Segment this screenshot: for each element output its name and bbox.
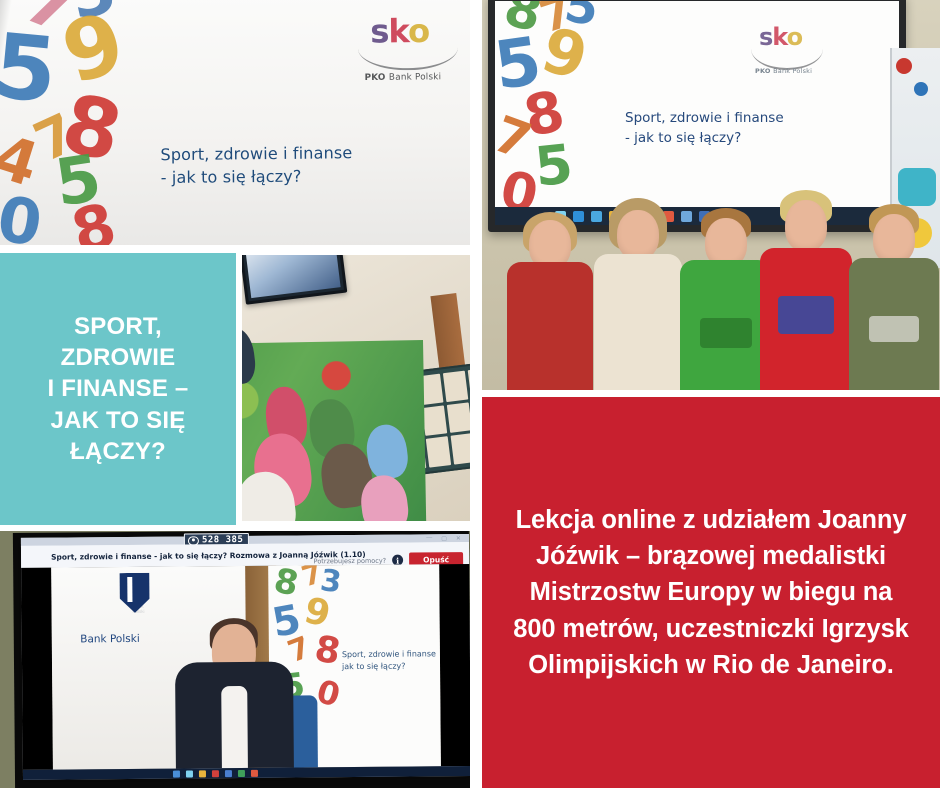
sko-logo: sko PKO Bank Polski xyxy=(356,16,463,92)
child-shirt-graphic xyxy=(700,318,752,348)
children-photo: 8 7 5 5 9 8 7 5 0 sko PKO Bank Polski Sp… xyxy=(482,0,940,390)
child-figure xyxy=(506,210,594,390)
taskbar-icon[interactable] xyxy=(238,769,245,776)
pko-brand-label: Bank Polski xyxy=(80,633,140,646)
pko-shield-icon xyxy=(120,573,150,613)
sko-letter-k: k xyxy=(388,13,408,51)
taskbar-icon[interactable] xyxy=(199,770,206,777)
child-head xyxy=(873,214,915,264)
maximize-icon[interactable]: ▢ xyxy=(441,535,447,542)
taskbar-icon[interactable] xyxy=(173,770,180,777)
slide-surface: 7 5 5 9 8 7 4 5 0 8 sko PKO Bank Polski … xyxy=(0,0,470,245)
sko-subtitle-rest: Bank Polski xyxy=(389,72,441,83)
teal-caption-panel: SPORT, ZDROWIE I FINANSE – JAK TO SIĘ ŁĄ… xyxy=(0,253,236,525)
sko-letter-o: o xyxy=(408,13,430,51)
guest-shirt xyxy=(222,686,249,768)
photo-collage: 7 5 5 9 8 7 4 5 0 8 sko PKO Bank Polski … xyxy=(0,0,940,788)
whiteboard-sko-logo: sko PKO Bank Polski xyxy=(749,25,827,83)
sko-wordmark: sko xyxy=(370,16,429,49)
slide-number-decoration: 7 5 5 9 8 7 4 5 0 8 xyxy=(0,0,148,245)
sko-wordmark: sko xyxy=(759,25,802,49)
notice-card xyxy=(468,368,470,399)
number-glyph: 5 xyxy=(0,22,60,117)
poster-smiley-icon xyxy=(898,168,936,206)
number-glyph: 0 xyxy=(314,675,344,712)
child-shirt xyxy=(507,262,593,390)
child-figure xyxy=(592,198,684,390)
video-slide-headline: Sport, zdrowie i finanse jak to się łącz… xyxy=(342,648,436,673)
sko-letter-o: o xyxy=(787,23,803,51)
video-call-photo: 528 385 — ▢ ✕ Sport, zdrowie i finanse -… xyxy=(0,531,470,788)
sko-smile-icon xyxy=(358,47,458,71)
slide-headline: Sport, zdrowie i finanse - jak to się łą… xyxy=(160,142,352,190)
poster-blob xyxy=(896,58,912,74)
child-shirt xyxy=(594,254,682,390)
poster-blob xyxy=(914,82,928,96)
classroom-photo xyxy=(242,255,470,521)
whiteboard-number-decoration: 8 7 5 5 9 8 7 5 0 xyxy=(495,1,599,225)
child-figure xyxy=(758,190,854,390)
sko-letter-k: k xyxy=(772,23,786,51)
video-stage: Bank Polski Bank Polski 8 7 xyxy=(21,564,470,770)
child-shirt-graphic xyxy=(778,296,834,334)
number-glyph: 8 xyxy=(66,194,122,245)
child-head xyxy=(785,200,827,252)
number-glyph: 0 xyxy=(0,188,46,245)
notice-card xyxy=(422,405,447,436)
number-glyph: 8 xyxy=(312,631,343,671)
number-glyph: 9 xyxy=(301,593,334,634)
guest-speaker-figure xyxy=(169,618,300,769)
sko-subtitle-bold: PKO xyxy=(755,67,773,75)
classroom-scene xyxy=(242,255,470,521)
sko-letter-s: s xyxy=(759,23,772,51)
monitor-bezel: 528 385 — ▢ ✕ Sport, zdrowie i finanse -… xyxy=(13,531,470,788)
sko-subtitle: PKO Bank Polski xyxy=(755,67,812,75)
notice-card xyxy=(443,371,468,402)
red-caption-panel: Lekcja online z udziałem Joanny Jóźwik –… xyxy=(482,397,940,788)
child-shirt-graphic xyxy=(869,316,919,342)
whiteboard-headline: Sport, zdrowie i finanse - jak to się łą… xyxy=(625,109,784,148)
number-glyph: 8 xyxy=(272,565,301,602)
red-caption-text: Lekcja online z udziałem Joanny Jóźwik –… xyxy=(482,502,940,683)
child-figure xyxy=(848,202,940,390)
taskbar-icon[interactable] xyxy=(212,770,219,777)
help-label[interactable]: Potrzebujesz pomocy? xyxy=(314,556,387,565)
child-head xyxy=(617,210,659,260)
notice-card xyxy=(426,437,451,468)
video-call-window: 528 385 — ▢ ✕ Sport, zdrowie i finanse -… xyxy=(21,534,470,780)
minimize-icon[interactable]: — xyxy=(426,535,432,542)
pko-shield-shape xyxy=(120,573,150,613)
taskbar-icon[interactable] xyxy=(251,769,258,776)
video-frame: Bank Polski Bank Polski 8 7 xyxy=(51,564,441,769)
taskbar-icon[interactable] xyxy=(186,770,193,777)
taskbar-icon[interactable] xyxy=(225,770,232,777)
teal-caption-text: SPORT, ZDROWIE I FINANSE – JAK TO SIĘ ŁĄ… xyxy=(40,311,197,467)
notice-card xyxy=(447,402,470,433)
notice-card xyxy=(451,434,470,465)
sko-subtitle-rest: Bank Polski xyxy=(773,67,812,75)
sko-letter-s: s xyxy=(370,13,389,51)
classroom-tv-screen xyxy=(246,255,341,298)
close-icon[interactable]: ✕ xyxy=(456,535,461,542)
slide-photo: 7 5 5 9 8 7 4 5 0 8 sko PKO Bank Polski … xyxy=(0,0,470,245)
sko-subtitle: PKO Bank Polski xyxy=(364,72,441,83)
sko-subtitle-bold: PKO xyxy=(364,73,388,84)
